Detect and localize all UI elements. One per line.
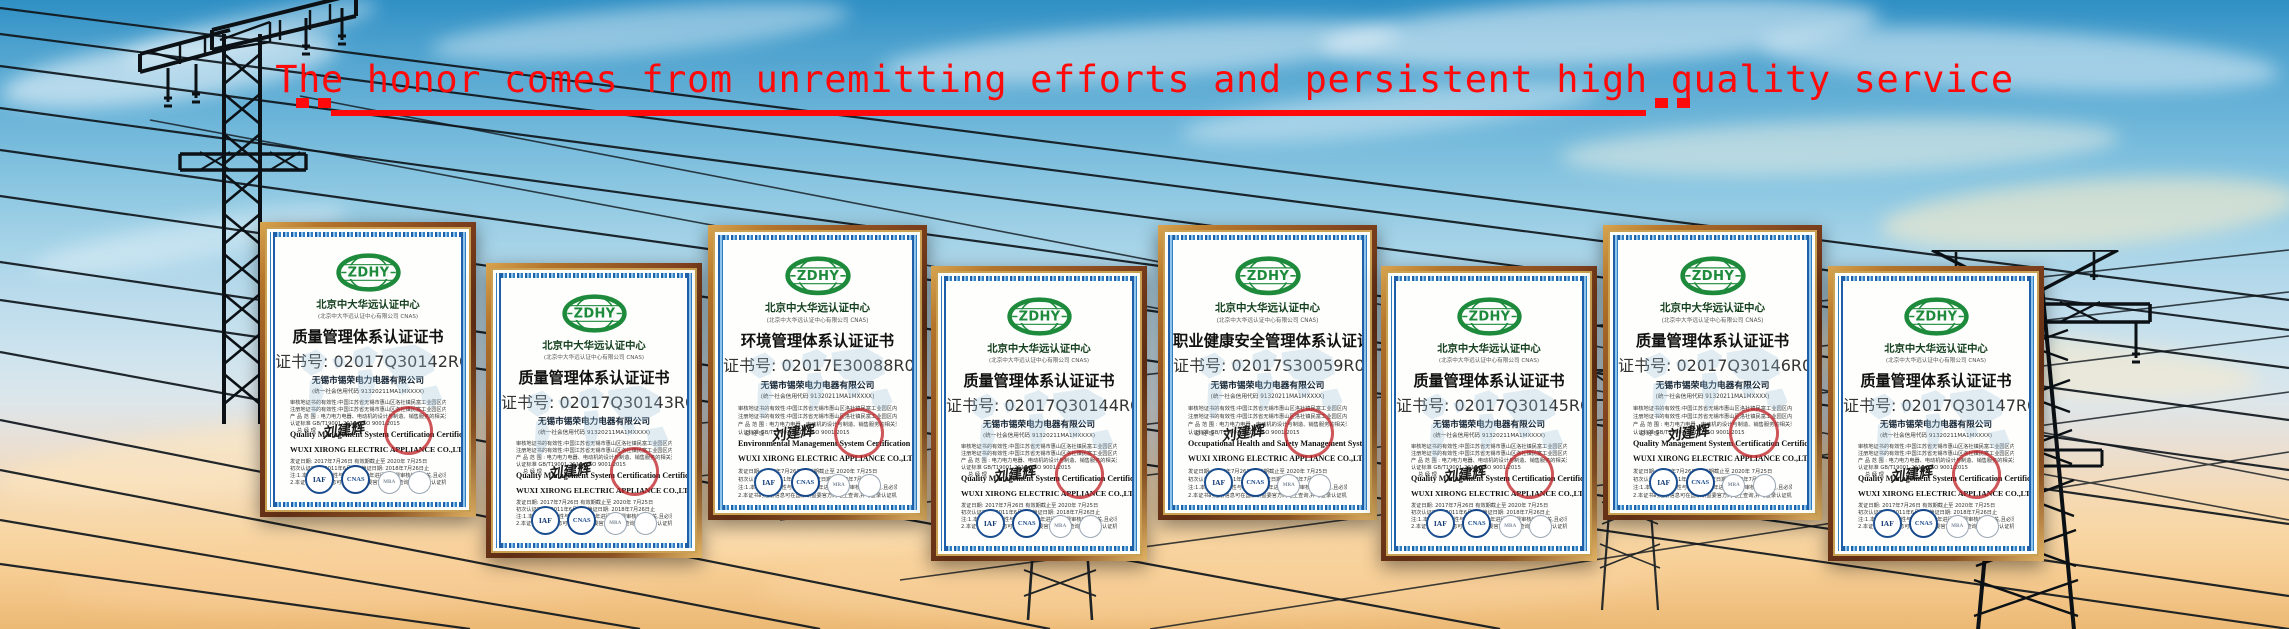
signature: 刘建辉 — [1889, 461, 1933, 487]
svg-text:ZDHY: ZDHY — [1691, 269, 1734, 284]
mra-seal: MRA — [1722, 474, 1745, 497]
certifier-name-cn-sub: (北京中大华远认证中心有限公司 CNAS) — [1843, 355, 2029, 364]
mra-seal: MRA — [1277, 474, 1300, 497]
zdhy-logo-icon: ZDHY — [562, 294, 627, 333]
mra-seal: MRA — [827, 474, 850, 497]
signature-block: 总 经 理 刘建辉 — [1865, 464, 1932, 484]
certificate-matte: ZDHY 北京中大华远认证中心 (北京中大华远认证中心有限公司 CNAS) 质量… — [1386, 271, 1592, 556]
iaf-seal: IAF — [754, 468, 783, 497]
svg-text:ZDHY: ZDHY — [1018, 309, 1060, 324]
extra-seal — [1308, 474, 1331, 497]
signature-label: 总 经 理 — [1195, 429, 1214, 437]
zdhy-logo-icon: ZDHY — [1904, 297, 1969, 336]
cnas-seal: CNAS — [1686, 468, 1715, 497]
iaf-seal: IAF — [1649, 468, 1678, 497]
svg-text:ZDHY: ZDHY — [1915, 309, 1957, 324]
signature-block: 总 经 理 刘建辉 — [968, 464, 1035, 484]
page-title: The honor comes from unremitting efforts… — [0, 58, 2289, 101]
title-underline — [331, 110, 1646, 116]
signature-block: 总 经 理 刘建辉 — [1640, 422, 1709, 443]
zdhy-logo-icon: ZDHY — [1457, 297, 1522, 336]
signature: 刘建辉 — [770, 419, 815, 446]
certifier-name-cn-sub: (北京中大华远认证中心有限公司 CNAS) — [275, 311, 461, 320]
certifier-name-cn-sub: (北京中大华远认证中心有限公司 CNAS) — [1618, 315, 1807, 324]
certifier-name-cn: 北京中大华远认证中心 — [723, 300, 912, 315]
signature-label: 总 经 理 — [1865, 471, 1884, 478]
certifier-name-cn: 北京中大华远认证中心 — [1396, 340, 1582, 355]
iaf-seal: IAF — [1873, 509, 1902, 538]
signature-label: 总 经 理 — [1640, 429, 1659, 437]
certificate-frame[interactable]: ZDHY 北京中大华远认证中心 (北京中大华远认证中心有限公司 CNAS) 环境… — [708, 225, 927, 520]
certificate-page: ZDHY 北京中大华远认证中心 (北京中大华远认证中心有限公司 CNAS) 环境… — [723, 240, 912, 505]
certifier-name-cn-sub: (北京中大华远认证中心有限公司 CNAS) — [723, 315, 912, 324]
accreditation-seal-row: IAF CNAS MRA — [275, 465, 461, 494]
zdhy-logo-icon: ZDHY — [1680, 256, 1746, 296]
certificate-matte: ZDHY 北京中大华远认证中心 (北京中大华远认证中心有限公司 CNAS) 职业… — [1163, 230, 1372, 515]
iaf-seal: IAF — [531, 506, 560, 535]
cnas-seal: CNAS — [1462, 509, 1491, 538]
cnas-seal: CNAS — [1909, 509, 1938, 538]
title-marker-square — [296, 98, 309, 108]
certificate-frame[interactable]: ZDHY 北京中大华远认证中心 (北京中大华远认证中心有限公司 CNAS) 质量… — [931, 266, 1147, 561]
issue-date-line: 发证日期: 2017年7月26日 有效期截止至 2020年 7月25日 — [1858, 502, 2014, 509]
iaf-seal: IAF — [1426, 509, 1455, 538]
extra-seal — [1079, 515, 1102, 538]
certifier-name-cn-sub: (北京中大华远认证中心有限公司 CNAS) — [501, 352, 687, 361]
issue-date-line: 发证日期: 2017年7月26日 有效期截止至 2020年 7月25日 — [961, 502, 1117, 509]
zdhy-logo-icon: ZDHY — [1235, 256, 1301, 296]
certificate-frame[interactable]: ZDHY 北京中大华远认证中心 (北京中大华远认证中心有限公司 CNAS) 质量… — [1381, 266, 1597, 561]
cnas-seal: CNAS — [1241, 468, 1270, 497]
accreditation-seal-row: IAF CNAS MRA — [1173, 468, 1362, 497]
accreditation-seal-row: IAF CNAS MRA — [1618, 468, 1807, 497]
mra-seal: MRA — [604, 512, 627, 535]
certificate-page: ZDHY 北京中大华远认证中心 (北京中大华远认证中心有限公司 CNAS) 职业… — [1173, 240, 1362, 505]
title-marker-square — [1655, 98, 1668, 108]
mra-seal: MRA — [1946, 515, 1969, 538]
certifier-name-cn: 北京中大华远认证中心 — [946, 340, 1132, 355]
issue-date-line: 发证日期: 2017年7月26日 有效期截止至 2020年 7月25日 — [290, 458, 446, 465]
signature-block: 总 经 理 刘建辉 — [1195, 422, 1264, 443]
extra-seal — [1976, 515, 1999, 538]
zdhy-logo-icon: ZDHY — [336, 253, 401, 292]
signature: 刘建辉 — [1442, 461, 1486, 487]
iaf-seal: IAF — [1204, 468, 1233, 497]
signature-label: 总 经 理 — [297, 427, 316, 434]
extra-seal — [858, 474, 881, 497]
certifier-name-cn-sub: (北京中大华远认证中心有限公司 CNAS) — [946, 355, 1132, 364]
svg-text:ZDHY: ZDHY — [1468, 309, 1510, 324]
certificate-page: ZDHY 北京中大华远认证中心 (北京中大华远认证中心有限公司 CNAS) 质量… — [1396, 281, 1582, 546]
certifier-name-cn: 北京中大华远认证中心 — [501, 337, 687, 352]
iaf-seal: IAF — [305, 465, 334, 494]
certifier-name-cn-sub: (北京中大华远认证中心有限公司 CNAS) — [1173, 315, 1362, 324]
mra-seal: MRA — [1499, 515, 1522, 538]
signature-label: 总 经 理 — [523, 468, 542, 475]
signature-block: 总 经 理 刘建辉 — [745, 422, 814, 443]
issue-date-line: 发证日期: 2017年7月26日 有效期截止至 2020年 7月25日 — [516, 499, 672, 506]
signature-label: 总 经 理 — [1418, 471, 1437, 478]
certificate-frame[interactable]: ZDHY 北京中大华远认证中心 (北京中大华远认证中心有限公司 CNAS) 质量… — [1828, 266, 2044, 561]
certificate-page: ZDHY 北京中大华远认证中心 (北京中大华远认证中心有限公司 CNAS) 质量… — [1618, 240, 1807, 505]
certifier-name-cn: 北京中大华远认证中心 — [1843, 340, 2029, 355]
cnas-seal: CNAS — [567, 506, 596, 535]
extra-seal — [1529, 515, 1552, 538]
company-name-en: WUXI XIRONG ELECTRIC APPLIANCE CO.,LTD. — [1188, 454, 1347, 463]
svg-text:ZDHY: ZDHY — [573, 306, 615, 321]
banner-stage: The honor comes from unremitting efforts… — [0, 0, 2289, 629]
certificate-matte: ZDHY 北京中大华远认证中心 (北京中大华远认证中心有限公司 CNAS) 环境… — [713, 230, 922, 515]
certificate-frame[interactable]: ZDHY 北京中大华远认证中心 (北京中大华远认证中心有限公司 CNAS) 质量… — [1603, 225, 1822, 520]
title-marker-square — [1677, 98, 1690, 108]
signature: 刘建辉 — [547, 458, 591, 484]
accreditation-seal-row: IAF CNAS MRA — [1843, 509, 2029, 538]
certifier-name-cn-sub: (北京中大华远认证中心有限公司 CNAS) — [1396, 355, 1582, 364]
signature: 刘建辉 — [992, 461, 1036, 487]
signature-label: 总 经 理 — [968, 471, 987, 478]
cnas-seal: CNAS — [341, 465, 370, 494]
extra-seal — [634, 512, 657, 535]
signature: 刘建辉 — [321, 417, 365, 443]
issue-date-line: 发证日期: 2017年7月26日 有效期截止至 2020年 7月25日 — [1411, 502, 1567, 509]
certificate-frame[interactable]: ZDHY 北京中大华远认证中心 (北京中大华远认证中心有限公司 CNAS) 质量… — [486, 263, 702, 558]
certifier-name-cn: 北京中大华远认证中心 — [1173, 300, 1362, 315]
certificate-frame[interactable]: ZDHY 北京中大华远认证中心 (北京中大华远认证中心有限公司 CNAS) 职业… — [1158, 225, 1377, 520]
cnas-seal: CNAS — [1012, 509, 1041, 538]
iaf-seal: IAF — [976, 509, 1005, 538]
certificate-frame[interactable]: ZDHY 北京中大华远认证中心 (北京中大华远认证中心有限公司 CNAS) 质量… — [260, 222, 476, 517]
mra-seal: MRA — [378, 471, 401, 494]
svg-text:ZDHY: ZDHY — [1246, 269, 1289, 284]
certificate-matte: ZDHY 北京中大华远认证中心 (北京中大华远认证中心有限公司 CNAS) 质量… — [491, 268, 697, 553]
extra-seal — [408, 471, 431, 494]
signature-label: 总 经 理 — [745, 429, 764, 437]
certificate-page: ZDHY 北京中大华远认证中心 (北京中大华远认证中心有限公司 CNAS) 质量… — [501, 278, 687, 543]
certificate-matte: ZDHY 北京中大华远认证中心 (北京中大华远认证中心有限公司 CNAS) 质量… — [1833, 271, 2039, 556]
certifier-name-cn: 北京中大华远认证中心 — [1618, 300, 1807, 315]
accreditation-seal-row: IAF CNAS MRA — [723, 468, 912, 497]
signature-block: 总 经 理 刘建辉 — [297, 420, 364, 440]
signature-block: 总 经 理 刘建辉 — [1418, 464, 1485, 484]
signature: 刘建辉 — [1665, 419, 1710, 446]
title-marker-square — [318, 98, 331, 108]
certificate-page: ZDHY 北京中大华远认证中心 (北京中大华远认证中心有限公司 CNAS) 质量… — [946, 281, 1132, 546]
extra-seal — [1753, 474, 1776, 497]
company-name-en: WUXI XIRONG ELECTRIC APPLIANCE CO.,LTD. — [738, 454, 897, 463]
certificate-matte: ZDHY 北京中大华远认证中心 (北京中大华远认证中心有限公司 CNAS) 质量… — [265, 227, 471, 512]
signature-block: 总 经 理 刘建辉 — [523, 461, 590, 481]
certifier-name-cn: 北京中大华远认证中心 — [275, 296, 461, 311]
svg-text:ZDHY: ZDHY — [796, 269, 839, 284]
cnas-seal: CNAS — [791, 468, 820, 497]
signature: 刘建辉 — [1220, 419, 1265, 446]
zdhy-logo-icon: ZDHY — [785, 256, 851, 296]
svg-text:ZDHY: ZDHY — [347, 265, 389, 280]
zdhy-logo-icon: ZDHY — [1007, 297, 1072, 336]
certificate-matte: ZDHY 北京中大华远认证中心 (北京中大华远认证中心有限公司 CNAS) 质量… — [1608, 230, 1817, 515]
accreditation-seal-row: IAF CNAS MRA — [1396, 509, 1582, 538]
certificate-matte: ZDHY 北京中大华远认证中心 (北京中大华远认证中心有限公司 CNAS) 质量… — [936, 271, 1142, 556]
accreditation-seal-row: IAF CNAS MRA — [501, 506, 687, 535]
accreditation-seal-row: IAF CNAS MRA — [946, 509, 1132, 538]
company-name-en: WUXI XIRONG ELECTRIC APPLIANCE CO.,LTD. — [1633, 454, 1792, 463]
certificate-page: ZDHY 北京中大华远认证中心 (北京中大华远认证中心有限公司 CNAS) 质量… — [275, 237, 461, 502]
mra-seal: MRA — [1049, 515, 1072, 538]
certificate-page: ZDHY 北京中大华远认证中心 (北京中大华远认证中心有限公司 CNAS) 质量… — [1843, 281, 2029, 546]
